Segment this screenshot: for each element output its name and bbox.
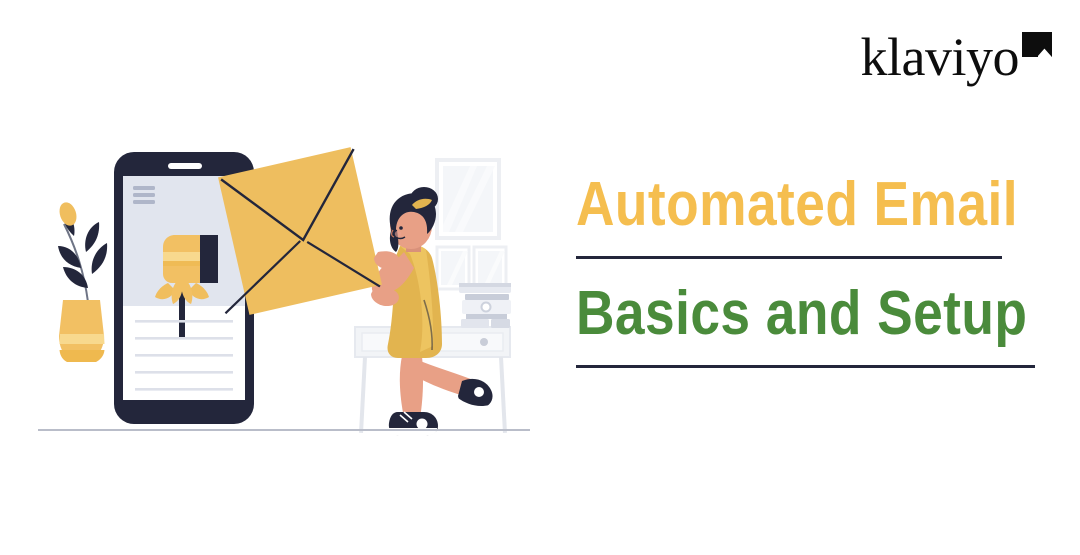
headline-line-2: Basics and Setup [576,277,980,351]
potted-plant [57,200,107,362]
book-stack [459,283,511,328]
klaviyo-email-banner: klaviyo Automated Email Basics and Setup [0,0,1080,555]
illustration [0,0,560,460]
picture-frames-group [437,160,506,289]
ground-line [38,429,530,431]
headline-line-1: Automated Email [576,168,980,242]
hamburger-menu-icon [133,186,155,204]
flag-icon [1022,32,1052,57]
headline-divider-1 [576,256,1002,259]
brand-logo: klaviyo [861,28,1052,90]
headline-block: Automated Email Basics and Setup [576,168,1046,386]
headline-divider-2 [576,365,1035,368]
brand-wordmark: klaviyo [861,28,1019,86]
